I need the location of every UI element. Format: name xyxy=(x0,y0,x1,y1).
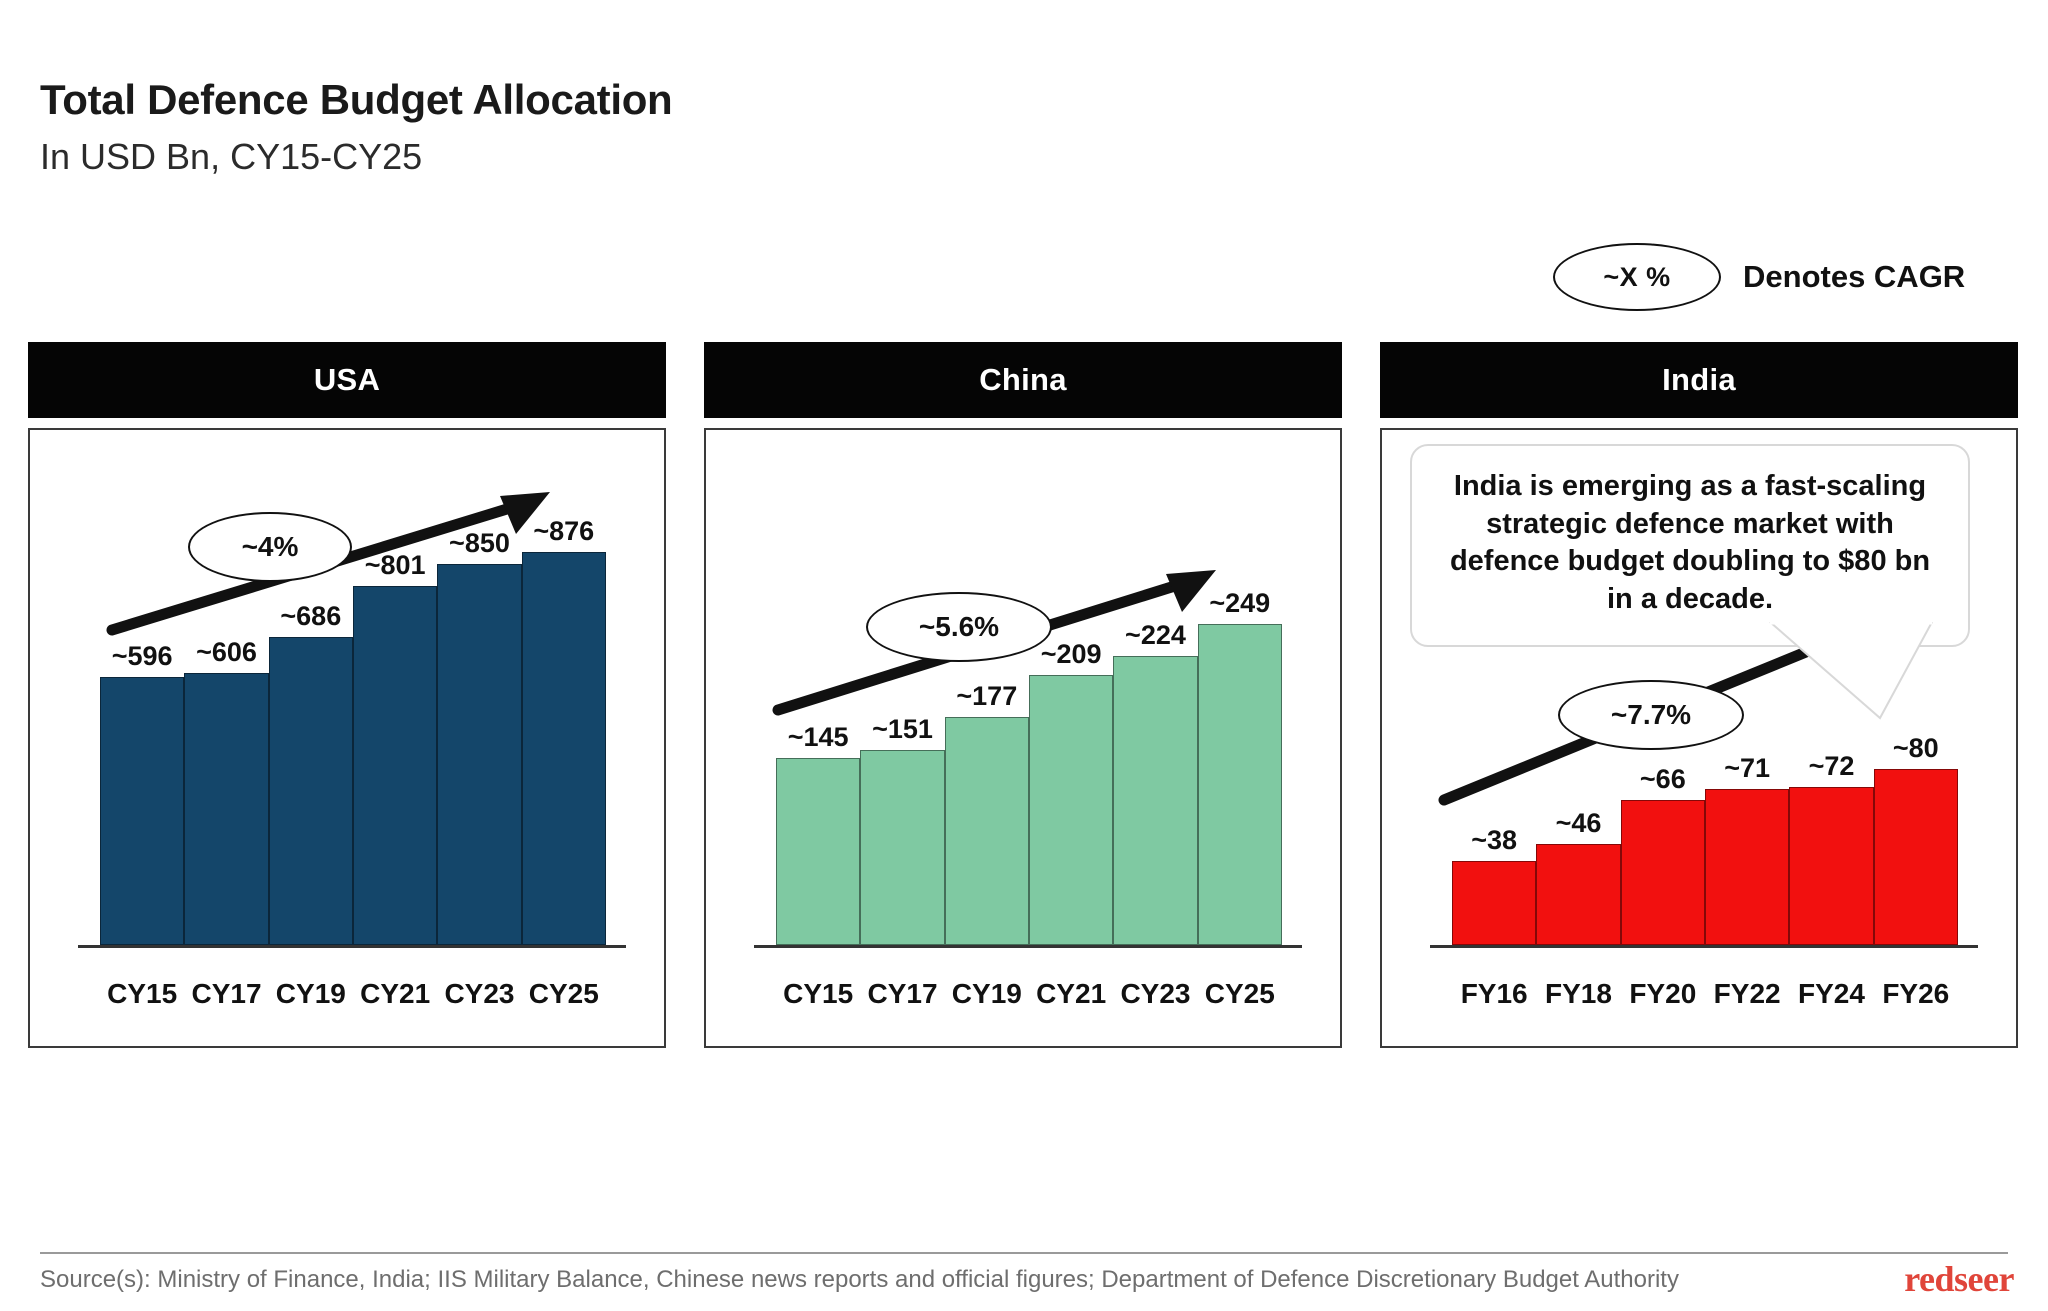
x-tick-label: CY21 xyxy=(353,978,437,1010)
bar-value-label: ~72 xyxy=(1809,751,1855,782)
x-axis-labels-india: FY16 FY18 FY20 FY22 FY24 FY26 xyxy=(1452,978,1958,1010)
bar-india-2: ~66 xyxy=(1621,800,1705,945)
cagr-badge-usa: ~4% xyxy=(188,512,352,582)
bar-group-usa: ~596 ~606 ~686 xyxy=(100,505,606,945)
bar-value-label: ~38 xyxy=(1471,825,1517,856)
bar-slot: ~145 xyxy=(776,505,860,945)
x-tick-label: CY23 xyxy=(437,978,521,1010)
x-tick-label: CY23 xyxy=(1113,978,1197,1010)
panel-header-usa: USA xyxy=(28,342,666,418)
bar-slot: ~249 xyxy=(1198,505,1282,945)
bar-slot: ~801 xyxy=(353,505,437,945)
x-axis-line-usa xyxy=(78,945,626,948)
bar-china-2: ~177 xyxy=(945,717,1029,945)
bar-india-1: ~46 xyxy=(1536,844,1620,945)
redseer-logo: redseer xyxy=(1904,1258,2014,1300)
bar-value-label: ~80 xyxy=(1893,733,1939,764)
bar-usa-2: ~686 xyxy=(269,637,353,945)
bar-slot: ~177 xyxy=(945,505,1029,945)
x-tick-label: CY19 xyxy=(269,978,353,1010)
footer-divider xyxy=(40,1252,2008,1254)
panel-title-usa: USA xyxy=(314,362,380,398)
bar-usa-4: ~850 xyxy=(437,564,521,945)
bar-value-label: ~224 xyxy=(1125,620,1186,651)
panel-header-india: India xyxy=(1380,342,2018,418)
bar-value-label: ~606 xyxy=(196,637,257,668)
cagr-legend-badge: ~X % xyxy=(1553,243,1721,311)
page-subtitle: In USD Bn, CY15-CY25 xyxy=(40,136,422,178)
india-insight-text: India is emerging as a fast-scaling stra… xyxy=(1438,468,1942,619)
x-axis-line-india xyxy=(1430,945,1978,948)
x-tick-label: CY17 xyxy=(860,978,944,1010)
bar-value-label: ~46 xyxy=(1556,808,1602,839)
bar-value-label: ~596 xyxy=(112,641,173,672)
bar-value-label: ~209 xyxy=(1041,639,1102,670)
x-tick-label: CY15 xyxy=(776,978,860,1010)
bar-value-label: ~801 xyxy=(365,550,426,581)
panel-china: China ~5.6% ~145 xyxy=(704,342,1342,1048)
bar-slot: ~850 xyxy=(437,505,521,945)
cagr-badge-china: ~5.6% xyxy=(866,592,1052,662)
bar-group-china: ~145 ~151 ~177 xyxy=(776,505,1282,945)
bar-china-0: ~145 xyxy=(776,758,860,945)
x-tick-label: CY25 xyxy=(1198,978,1282,1010)
bar-slot: ~209 xyxy=(1029,505,1113,945)
bar-india-3: ~71 xyxy=(1705,789,1789,945)
x-axis-labels-china: CY15 CY17 CY19 CY21 CY23 CY25 xyxy=(776,978,1282,1010)
x-tick-label: CY17 xyxy=(184,978,268,1010)
panel-title-china: China xyxy=(979,362,1067,398)
x-tick-label: FY22 xyxy=(1705,978,1789,1010)
x-axis-line-china xyxy=(754,945,1302,948)
slide-canvas: Total Defence Budget Allocation In USD B… xyxy=(0,0,2048,1311)
panel-usa: USA ~4% ~596 ~606 xyxy=(28,342,666,1048)
bar-india-5: ~80 xyxy=(1874,769,1958,945)
x-tick-label: CY25 xyxy=(522,978,606,1010)
bar-value-label: ~145 xyxy=(788,722,849,753)
cagr-badge-india: ~7.7% xyxy=(1558,680,1744,750)
bar-china-4: ~224 xyxy=(1113,656,1197,945)
x-tick-label: CY15 xyxy=(100,978,184,1010)
x-tick-label: FY24 xyxy=(1789,978,1873,1010)
bar-india-4: ~72 xyxy=(1789,787,1873,945)
page-title: Total Defence Budget Allocation xyxy=(40,76,672,124)
bar-usa-3: ~801 xyxy=(353,586,437,945)
bar-value-label: ~876 xyxy=(533,516,594,547)
bar-usa-1: ~606 xyxy=(184,673,268,945)
x-tick-label: FY16 xyxy=(1452,978,1536,1010)
bar-slot: ~876 xyxy=(522,505,606,945)
panel-header-china: China xyxy=(704,342,1342,418)
panel-body-china: ~5.6% ~145 ~151 ~177 xyxy=(704,428,1342,1048)
panel-title-india: India xyxy=(1662,362,1736,398)
panel-body-usa: ~4% ~596 ~606 ~686 xyxy=(28,428,666,1048)
x-axis-labels-usa: CY15 CY17 CY19 CY21 CY23 CY25 xyxy=(100,978,606,1010)
bar-value-label: ~151 xyxy=(872,714,933,745)
x-tick-label: FY20 xyxy=(1621,978,1705,1010)
cagr-legend-label: Denotes CAGR xyxy=(1743,259,1965,295)
india-insight-callout: India is emerging as a fast-scaling stra… xyxy=(1410,444,1970,647)
bar-value-label: ~177 xyxy=(956,681,1017,712)
x-tick-label: CY21 xyxy=(1029,978,1113,1010)
bar-slot: ~151 xyxy=(860,505,944,945)
bar-china-3: ~209 xyxy=(1029,675,1113,945)
source-note: Source(s): Ministry of Finance, India; I… xyxy=(40,1266,1679,1294)
plot-area-china: ~5.6% ~145 ~151 ~177 xyxy=(706,430,1340,1046)
callout-tail xyxy=(1762,620,1962,730)
bar-usa-0: ~596 xyxy=(100,677,184,945)
bar-value-label: ~686 xyxy=(280,601,341,632)
panel-body-india: India is emerging as a fast-scaling stra… xyxy=(1380,428,2018,1048)
x-tick-label: FY18 xyxy=(1536,978,1620,1010)
bar-china-1: ~151 xyxy=(860,750,944,945)
bar-usa-5: ~876 xyxy=(522,552,606,945)
bar-china-5: ~249 xyxy=(1198,624,1282,945)
plot-area-usa: ~4% ~596 ~606 ~686 xyxy=(30,430,664,1046)
bar-value-label: ~249 xyxy=(1209,588,1270,619)
bar-value-label: ~66 xyxy=(1640,764,1686,795)
bar-india-0: ~38 xyxy=(1452,861,1536,945)
bar-value-label: ~850 xyxy=(449,528,510,559)
bar-slot: ~596 xyxy=(100,505,184,945)
cagr-legend: ~X % Denotes CAGR xyxy=(1553,243,1965,311)
bar-slot: ~224 xyxy=(1113,505,1197,945)
x-tick-label: CY19 xyxy=(945,978,1029,1010)
bar-value-label: ~71 xyxy=(1724,753,1770,784)
panel-india: India India is emerging as a fast-scalin… xyxy=(1380,342,2018,1048)
x-tick-label: FY26 xyxy=(1874,978,1958,1010)
